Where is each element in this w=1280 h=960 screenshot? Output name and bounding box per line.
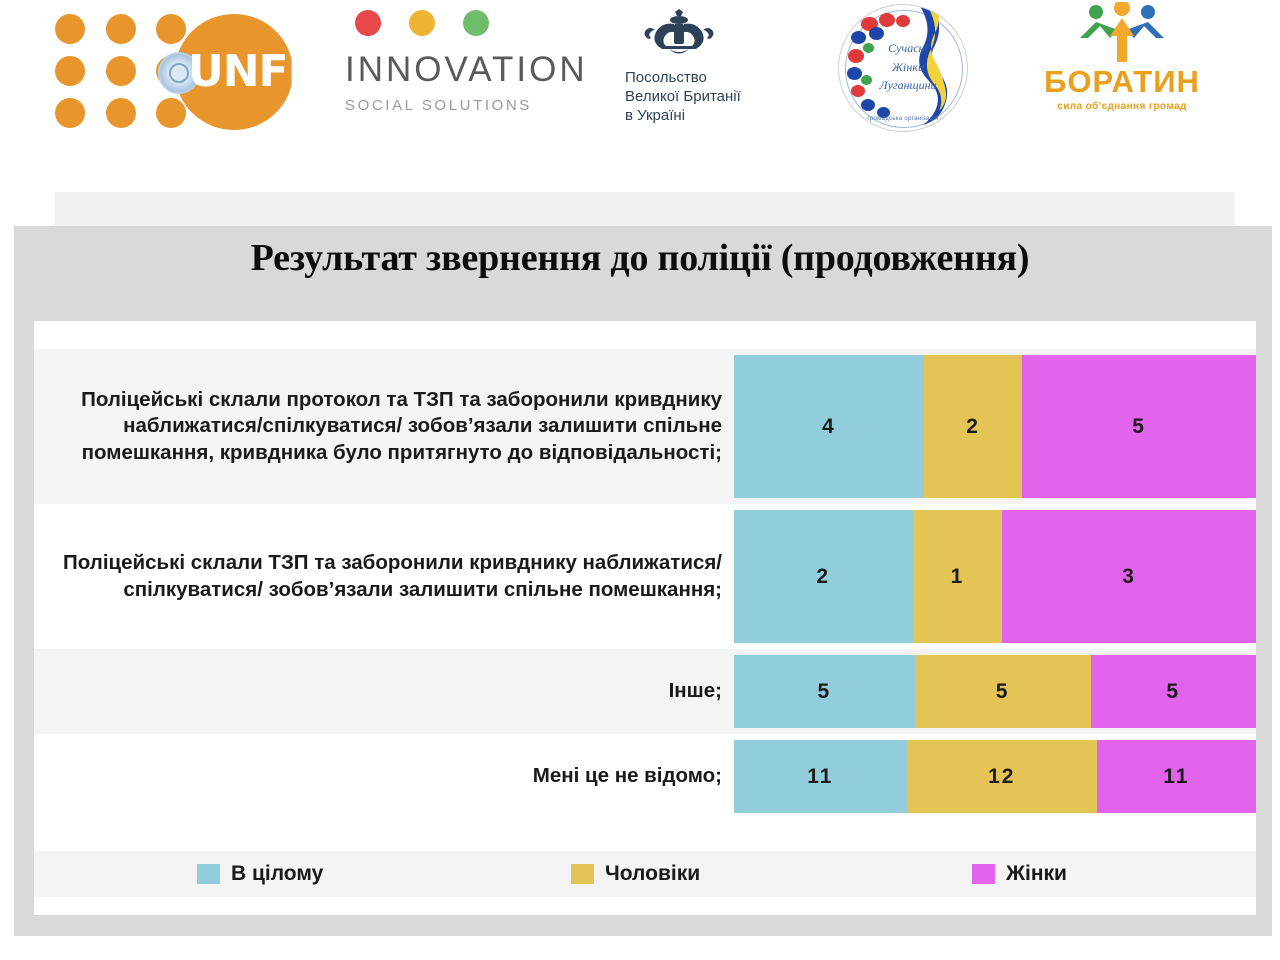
logo-boratyn: БОРАТИН сила об'єднання громад xyxy=(1022,2,1222,126)
chart-bar-segment[interactable]: 11 xyxy=(1097,740,1256,813)
chart-row: Інше;555 xyxy=(34,649,1256,734)
women-ngo-wordmark: Сучасні Жінки Луганщини xyxy=(869,39,947,95)
legend-item-v-tsilomu[interactable]: В цілому xyxy=(197,862,323,886)
chart-row-bars: 555 xyxy=(734,649,1256,734)
chart-row-label: Інше; xyxy=(34,649,734,734)
legend-item-choloviky[interactable]: Чоловіки xyxy=(571,862,700,886)
chart-row-label: Мені це не відомо; xyxy=(34,734,734,819)
legend-swatch-choloviky xyxy=(571,864,594,884)
slide-bottom-strip xyxy=(0,936,1280,960)
logo-suchasni-zhinky: Сучасні Жінки Луганщини громадська орган… xyxy=(838,4,978,138)
unfpa-wordmark: UNFPA xyxy=(188,50,348,94)
chart-row: Мені це не відомо;111211 xyxy=(34,734,1256,819)
chart-bar-segment[interactable]: 2 xyxy=(734,510,913,643)
chart-row-bars: 425 xyxy=(734,349,1256,504)
boratyn-wordmark: БОРАТИН xyxy=(1022,66,1222,97)
page-title: Результат звернення до поліції (продовже… xyxy=(0,236,1280,280)
innovation-title: INNOVATION xyxy=(345,50,575,90)
legend-label-v-tsilomu: В цілому xyxy=(231,862,323,886)
innovation-subtitle: SOCIAL SOLUTIONS xyxy=(345,97,575,114)
slide-container: Результат звернення до поліції (продовже… xyxy=(0,178,1280,960)
chart-bar-segment[interactable]: 5 xyxy=(1091,655,1256,728)
royal-coat-of-arms-icon xyxy=(631,8,727,62)
chart-bar-segment[interactable]: 5 xyxy=(915,655,1091,728)
legend-label-zhinky: Жінки xyxy=(1006,862,1067,886)
legend-label-choloviky: Чоловіки xyxy=(605,862,700,886)
chart-row-label: Поліцейські склали протокол та ТЗП та за… xyxy=(34,349,734,504)
boratyn-subtitle: сила об'єднання громад xyxy=(1022,101,1222,112)
women-ngo-word-1: Сучасні xyxy=(869,39,947,58)
women-ngo-emblem-icon: Сучасні Жінки Луганщини громадська орган… xyxy=(838,4,968,132)
women-ngo-word-3: Луганщини xyxy=(869,76,947,95)
chart-bar-segment[interactable]: 4 xyxy=(734,355,924,498)
chart-legend: В цілому Чоловіки Жінки xyxy=(34,851,1256,897)
chart-row-bars: 111211 xyxy=(734,734,1256,819)
chart-bar-segment[interactable]: 2 xyxy=(924,355,1022,498)
uk-embassy-line-2: Великої Британії xyxy=(625,87,795,106)
legend-swatch-v-tsilomu xyxy=(197,864,220,884)
chart-bar-segment[interactable]: 12 xyxy=(907,740,1097,813)
chart-row-bars: 213 xyxy=(734,504,1256,649)
chart-bar-segment[interactable]: 5 xyxy=(1022,355,1256,498)
chart-row: Поліцейські склали протокол та ТЗП та за… xyxy=(34,349,1256,504)
chart-row-list: Поліцейські склали протокол та ТЗП та за… xyxy=(34,349,1256,819)
chart-row: Поліцейські склали ТЗП та заборонили кри… xyxy=(34,504,1256,649)
women-ngo-word-2: Жінки xyxy=(869,58,947,77)
innovation-dots-icon xyxy=(355,10,575,36)
legend-swatch-zhinky xyxy=(972,864,995,884)
legend-item-zhinky[interactable]: Жінки xyxy=(972,862,1067,886)
stacked-bar-chart: Поліцейські склали протокол та ТЗП та за… xyxy=(34,321,1256,915)
chart-bar-segment[interactable]: 11 xyxy=(734,740,907,813)
uk-embassy-text: Посольство Великої Британії в Україні xyxy=(625,68,795,126)
chart-bar-segment[interactable]: 5 xyxy=(734,655,915,728)
uk-embassy-line-3: в Україні xyxy=(625,106,795,125)
women-ngo-tagline: громадська організація xyxy=(857,116,949,122)
partner-logo-band: UNFPA INNOVATION SOCIAL SOLUTIONS xyxy=(0,0,1280,178)
chart-row-label: Поліцейські склали ТЗП та заборонили кри… xyxy=(34,504,734,649)
logo-unfpa: UNFPA xyxy=(55,6,295,134)
chart-bar-segment[interactable]: 1 xyxy=(913,510,1003,643)
slide-top-strip xyxy=(55,192,1235,226)
logo-innovation: INNOVATION SOCIAL SOLUTIONS xyxy=(345,10,575,120)
logo-uk-embassy: Посольство Великої Британії в Україні xyxy=(625,8,795,133)
uk-embassy-line-1: Посольство xyxy=(625,68,795,87)
chart-bar-segment[interactable]: 3 xyxy=(1002,510,1256,643)
boratyn-people-icon xyxy=(1066,2,1178,64)
